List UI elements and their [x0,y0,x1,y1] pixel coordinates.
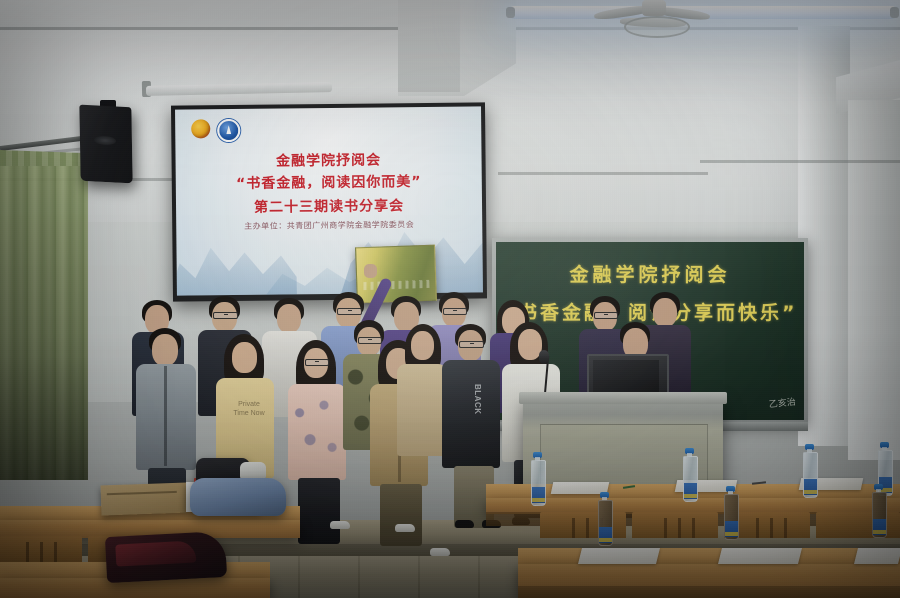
slide-organizer-line: 主办单位：共青团广州商学院金融学院委员会 [176,218,482,232]
face [653,298,677,327]
shoe [395,524,415,532]
chair-back [540,512,626,538]
podium-top-surface [519,392,727,404]
face [232,342,257,373]
paper-sheet [854,548,900,564]
chair-slat [692,518,695,538]
chair-slat [54,542,57,564]
glasses-icon [358,337,382,344]
blue-tote-bag [190,478,286,516]
bottle-label [873,519,886,535]
dark-red-backpack [105,531,227,583]
tube-light-cap-right [890,7,899,18]
wall-speaker [79,105,132,184]
tube-light-cap-left [506,7,515,18]
torso [442,360,500,468]
chair-back [816,512,900,538]
bottle-body [803,452,818,498]
face [411,331,434,360]
slide-title-line-2: “书香金融，阅读因你而美” [176,170,482,193]
torso [397,364,447,456]
fan-guard [624,16,690,38]
curtain-shadow [0,150,88,480]
chair-slat [678,518,681,538]
bottle-label [684,483,697,499]
bottle-body [683,456,698,502]
zipper [164,366,167,466]
bottle-body [531,460,546,506]
glasses-icon [305,359,329,366]
chair-slat [664,518,667,538]
glasses-icon [459,341,484,348]
microphone-head [539,350,549,364]
chair-slat [586,518,589,538]
wall-rail-right [700,160,900,163]
raised-hand [364,264,377,278]
glasses-icon [337,308,362,315]
chair-slat [572,518,575,538]
projection-screen-frame: 金融学院抒阅会 “书香金融，阅读因你而美” 第二十三期读书分享会 主办单位：共青… [171,102,487,301]
wall-column-right-lower [848,100,900,460]
chair-slat [770,518,773,538]
blackboard-line-1: 金融学院抒阅会 [496,260,804,287]
face [277,304,301,333]
ceiling-beam-left-face [398,0,460,92]
bottle-body [724,494,739,540]
chair-back [632,512,718,538]
glasses-icon [594,312,618,319]
ceiling-fan [598,0,708,36]
shoe [330,521,350,529]
chair-slat [756,518,759,538]
bottle-label [532,487,545,503]
chair-slat [784,518,787,538]
bottle-label [599,527,612,543]
blackboard-signature: 乙亥治 [769,399,797,412]
paper-sheet [578,548,660,564]
bottle-label [725,521,738,537]
bottle-label [804,479,817,495]
glasses-icon [443,308,467,315]
fan-hub [642,0,666,16]
shoe [455,520,474,528]
bottle-body [598,500,613,546]
jacket-graphic-text: BLACK [473,384,482,415]
cardboard-box [101,483,188,516]
university-crest-icon [217,119,240,142]
wall-rail-center [498,172,708,175]
chair-slat [40,542,43,564]
paper-sheet [718,548,802,564]
sweatshirt-graphic-text: Private Time Now [230,400,268,418]
communist-youth-league-emblem-icon [191,119,210,138]
shoe [430,548,450,556]
desk-shadow-front-right [518,586,900,598]
face [152,334,178,366]
legs [298,478,340,544]
torso [288,384,346,480]
chair-slat [26,542,29,564]
classroom-photo: 金融学院抒阅会 “书香金融，阅读因你而美” 第二十三期读书分享会 主办单位：共青… [0,0,900,598]
projection-screen: 金融学院抒阅会 “书香金融，阅读因你而美” 第二十三期读书分享会 主办单位：共青… [175,106,483,295]
glasses-icon [213,312,238,319]
legs [380,484,422,546]
slide-title-line-3: 第二十三期读书分享会 [176,194,482,217]
bottle-body [872,492,887,538]
slide-title-line-1: 金融学院抒阅会 [175,148,481,171]
